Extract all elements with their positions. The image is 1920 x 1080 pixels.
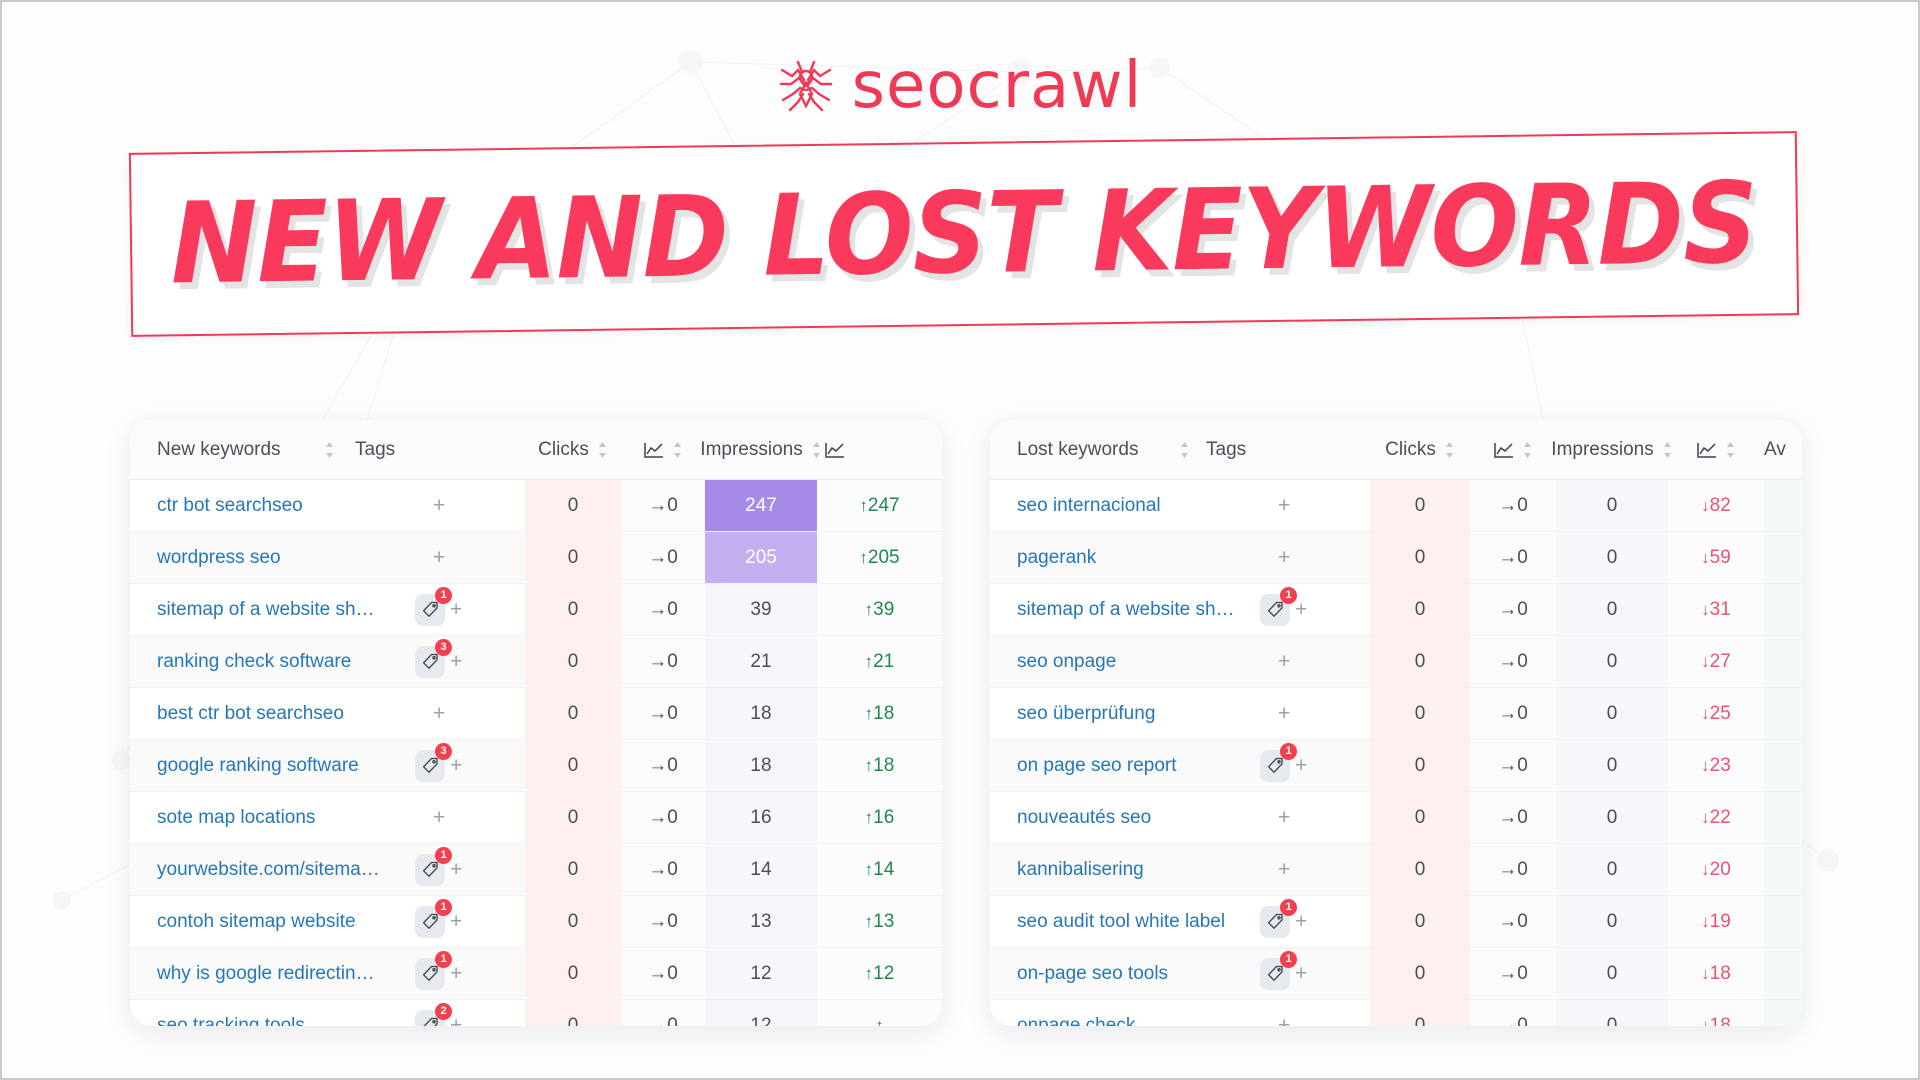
keyword-link[interactable]: on-page seo tools [1017,963,1168,984]
col-clicks-label: Clicks [1385,439,1436,461]
table-row[interactable]: sitemap of a website sh…1+0→039↑39 [130,584,942,636]
down-arrow-icon: ↓ [1701,756,1710,775]
impressions-delta-cell: ↑39 [817,584,942,636]
clicks-cell: 0 [525,584,621,636]
clicks-cell: 0 [525,948,621,1000]
tags-cell[interactable]: 1+ [1200,948,1370,1000]
line-chart-icon [825,442,845,458]
down-arrow-icon: ↓ [1701,1016,1710,1027]
tag-chip[interactable]: 1 [415,958,445,990]
sort-icon[interactable] [597,441,608,459]
keyword-cell[interactable]: on page seo report [990,740,1200,792]
up-arrow-icon: ↑ [875,1016,884,1027]
keyword-cell[interactable]: seo onpage [990,636,1200,688]
flat-arrow-icon: → [1498,911,1517,932]
table-row[interactable]: on-page seo tools1+0→00↓18 [990,948,1802,1000]
keyword-link[interactable]: seo internacional [1017,495,1161,516]
impressions-cell: 0 [1556,1000,1668,1027]
clicks-delta-cell: →0 [621,844,705,896]
tags-cell[interactable]: 1+ [1200,740,1370,792]
up-arrow-icon: ↑ [865,652,874,671]
col-impressions-trend[interactable] [1668,420,1764,480]
spider-icon [778,56,834,116]
keyword-cell[interactable]: seo internacional [990,480,1200,532]
tag-count-badge: 3 [435,743,452,760]
tag-chip[interactable]: 1 [1260,750,1290,782]
keyword-cell[interactable]: ranking check software [130,636,345,688]
tag-icon [1267,601,1284,618]
new-keywords-card: New keywords Tags Clicks [130,420,942,1026]
clicks-cell: 0 [1370,532,1470,584]
impressions-cell: 205 [705,532,817,584]
tag-chip[interactable]: 1 [1260,958,1290,990]
col-tags-label: Tags [1206,439,1246,461]
add-tag-button[interactable]: + [1278,703,1290,724]
clicks-delta-cell: →0 [1470,740,1556,792]
table-row[interactable]: seo internacional+0→00↓82 [990,480,1802,532]
clicks-delta-cell: →0 [1470,584,1556,636]
sort-icon[interactable] [1179,441,1190,459]
clicks-cell: 0 [525,1000,621,1027]
add-tag-button[interactable]: + [1295,911,1307,932]
impressions-delta-cell: ↑14 [817,844,942,896]
impressions-delta-cell: ↓22 [1668,792,1764,844]
clicks-delta-cell: →0 [621,636,705,688]
tag-count-badge: 1 [1280,899,1297,916]
flat-arrow-icon: → [1498,859,1517,880]
keyword-link[interactable]: seo onpage [1017,651,1116,672]
tag-icon [422,601,439,618]
impressions-delta-cell: ↑18 [817,688,942,740]
impressions-delta-cell: ↓20 [1668,844,1764,896]
col-impressions-label: Impressions [700,439,802,461]
table-head: New keywords Tags Clicks [130,420,942,480]
clicks-cell: 0 [1370,948,1470,1000]
clicks-delta-cell: →0 [621,480,705,532]
clicks-cell: 0 [1370,740,1470,792]
tag-chip[interactable]: 3 [415,750,445,782]
impressions-cell: 0 [1556,948,1668,1000]
impressions-delta-cell: ↑ [817,1000,942,1027]
keyword-cell[interactable]: sitemap of a website sh… [990,584,1200,636]
tag-icon [422,653,439,670]
table-row[interactable]: yourwebsite.com/sitema…1+0→014↑14 [130,844,942,896]
tags-cell[interactable]: + [1200,792,1370,844]
add-tag-button[interactable]: + [450,651,462,672]
up-arrow-icon: ↑ [859,548,868,567]
sort-icon[interactable] [672,441,683,459]
keyword-link[interactable]: why is google redirectin… [157,963,375,984]
keyword-cell[interactable]: wordpress seo [130,532,345,584]
clicks-delta-cell: →0 [1470,844,1556,896]
tags-cell[interactable]: + [345,792,525,844]
add-tag-button[interactable]: + [1278,1015,1290,1026]
keyword-cell[interactable]: yourwebsite.com/sitema… [130,844,345,896]
clicks-cell: 0 [525,896,621,948]
add-tag-button[interactable]: + [1278,807,1290,828]
flat-arrow-icon: → [1498,495,1517,516]
down-arrow-icon: ↓ [1701,912,1710,931]
add-tag-button[interactable]: + [450,859,462,880]
up-arrow-icon: ↑ [865,704,874,723]
sort-icon[interactable] [1725,441,1736,459]
impressions-delta-cell: ↑205 [817,532,942,584]
down-arrow-icon: ↓ [1701,860,1710,879]
keyword-link[interactable]: seo tracking tools [157,1015,305,1027]
tag-icon [1267,965,1284,982]
up-arrow-icon: ↑ [865,808,874,827]
table-row[interactable]: google ranking software3+0→018↑18 [130,740,942,792]
sort-icon[interactable] [1662,441,1673,459]
impressions-cell: 18 [705,688,817,740]
keyword-link[interactable]: seo audit tool white label [1017,911,1225,932]
flat-arrow-icon: → [1498,703,1517,724]
clicks-delta-cell: →0 [1470,688,1556,740]
keyword-cell[interactable]: best ctr bot searchseo [130,688,345,740]
table-row[interactable]: contoh sitemap website1+0→013↑13 [130,896,942,948]
add-tag-button[interactable]: + [1295,963,1307,984]
impressions-delta-cell: ↑21 [817,636,942,688]
table-row[interactable]: best ctr bot searchseo+0→018↑18 [130,688,942,740]
clicks-cell: 0 [1370,1000,1470,1027]
keyword-link[interactable]: sitemap of a website sh… [1017,599,1235,620]
clicks-cell: 0 [1370,792,1470,844]
clicks-cell: 0 [1370,480,1470,532]
flat-arrow-icon: → [648,755,667,776]
table-row[interactable]: nouveautés seo+0→00↓22 [990,792,1802,844]
table-row[interactable]: seo überprüfung+0→00↓25 [990,688,1802,740]
impressions-cell: 0 [1556,844,1668,896]
impressions-cell: 12 [705,1000,817,1027]
tag-count-badge: 1 [435,951,452,968]
clicks-delta-cell: →0 [1470,948,1556,1000]
clicks-cell: 0 [1370,636,1470,688]
impressions-cell: 12 [705,948,817,1000]
col-clicks-trend[interactable] [1470,420,1556,480]
tag-chip[interactable]: 1 [415,594,445,626]
avg-position-cell [1764,1000,1802,1027]
keyword-link[interactable]: best ctr bot searchseo [157,703,344,724]
banner-title: NEW AND LOST KEYWORDS [170,168,1758,301]
tags-cell[interactable]: 2+ [345,1000,525,1027]
table-row[interactable]: onpage check+0→00↓18 [990,1000,1802,1027]
flat-arrow-icon: → [1498,963,1517,984]
flat-arrow-icon: → [1498,755,1517,776]
impressions-delta-cell: ↓18 [1668,948,1764,1000]
impressions-cell: 0 [1556,532,1668,584]
keyword-link[interactable]: sitemap of a website sh… [157,599,375,620]
avg-position-cell [1764,584,1802,636]
impressions-delta-cell: ↓23 [1668,740,1764,792]
col-clicks[interactable]: Clicks [1370,420,1470,480]
tag-count-badge: 1 [1280,743,1297,760]
clicks-delta-cell: →0 [621,532,705,584]
table-row[interactable]: wordpress seo+0→0205↑205 [130,532,942,584]
add-tag-button[interactable]: + [450,599,462,620]
keyword-cell[interactable]: nouveautés seo [990,792,1200,844]
keyword-link[interactable]: seo überprüfung [1017,703,1155,724]
col-avg-position-label: Av [1764,439,1786,461]
keyword-link[interactable]: sote map locations [157,807,315,828]
keyword-link[interactable]: kannibalisering [1017,859,1144,880]
add-tag-button[interactable]: + [450,911,462,932]
tags-cell[interactable]: + [345,688,525,740]
avg-position-cell [1764,896,1802,948]
lost-keywords-card: Lost keywords Tags Clicks [990,420,1802,1026]
clicks-delta-cell: →0 [621,688,705,740]
keyword-cell[interactable]: kannibalisering [990,844,1200,896]
add-tag-button[interactable]: + [433,703,445,724]
keyword-cell[interactable]: on-page seo tools [990,948,1200,1000]
keyword-cell[interactable]: seo audit tool white label [990,896,1200,948]
col-new-keywords[interactable]: New keywords [130,420,345,480]
flat-arrow-icon: → [648,599,667,620]
impressions-delta-cell: ↑247 [817,480,942,532]
table-row[interactable]: why is google redirectin…1+0→012↑12 [130,948,942,1000]
tag-icon [1267,757,1284,774]
sort-icon[interactable] [1444,441,1455,459]
clicks-delta-cell: →0 [621,948,705,1000]
up-arrow-icon: ↑ [865,600,874,619]
keyword-cell[interactable]: google ranking software [130,740,345,792]
header-row: Lost keywords Tags Clicks [990,420,1802,480]
keyword-link[interactable]: nouveautés seo [1017,807,1151,828]
tags-cell[interactable]: + [345,480,525,532]
keyword-link[interactable]: contoh sitemap website [157,911,356,932]
col-tags: Tags [1200,420,1370,480]
flat-arrow-icon: → [648,495,667,516]
down-arrow-icon: ↓ [1701,704,1710,723]
keyword-link[interactable]: on page seo report [1017,755,1177,776]
impressions-delta-cell: ↓25 [1668,688,1764,740]
avg-position-cell [1764,636,1802,688]
sort-icon[interactable] [811,441,822,459]
tag-icon [422,757,439,774]
up-arrow-icon: ↑ [859,496,868,515]
col-impressions-trend[interactable] [817,420,942,480]
add-tag-button[interactable]: + [1278,859,1290,880]
clicks-delta-cell: →0 [1470,896,1556,948]
avg-position-cell [1764,532,1802,584]
impressions-cell: 247 [705,480,817,532]
tags-cell[interactable]: 1+ [345,896,525,948]
table-row[interactable]: ranking check software3+0→021↑21 [130,636,942,688]
avg-position-cell [1764,792,1802,844]
keyword-link[interactable]: pagerank [1017,547,1096,568]
line-chart-icon [644,442,664,458]
flat-arrow-icon: → [648,547,667,568]
tag-chip[interactable]: 1 [1260,906,1290,938]
add-tag-button[interactable]: + [1278,547,1290,568]
flat-arrow-icon: → [1498,807,1517,828]
impressions-cell: 16 [705,792,817,844]
table-head: Lost keywords Tags Clicks [990,420,1802,480]
clicks-delta-cell: →0 [621,740,705,792]
keyword-link[interactable]: ctr bot searchseo [157,495,303,516]
avg-position-cell [1764,480,1802,532]
keyword-link[interactable]: yourwebsite.com/sitema… [157,859,380,880]
impressions-delta-cell: ↓27 [1668,636,1764,688]
impressions-cell: 18 [705,740,817,792]
clicks-delta-cell: →0 [1470,532,1556,584]
tags-cell[interactable]: + [1200,480,1370,532]
tags-cell[interactable]: 3+ [345,636,525,688]
add-tag-button[interactable]: + [433,495,445,516]
add-tag-button[interactable]: + [1295,755,1307,776]
table-row[interactable]: on page seo report1+0→00↓23 [990,740,1802,792]
avg-position-cell [1764,688,1802,740]
impressions-delta-cell: ↓82 [1668,480,1764,532]
keyword-link[interactable]: google ranking software [157,755,359,776]
tags-cell[interactable]: + [1200,636,1370,688]
impressions-cell: 0 [1556,480,1668,532]
col-tags-label: Tags [355,439,395,461]
sort-icon[interactable] [1522,441,1533,459]
down-arrow-icon: ↓ [1701,548,1710,567]
keyword-cell[interactable]: contoh sitemap website [130,896,345,948]
add-tag-button[interactable]: + [450,755,462,776]
col-impressions[interactable]: Impressions [1556,420,1668,480]
col-tags: Tags [345,420,525,480]
impressions-delta-cell: ↑16 [817,792,942,844]
up-arrow-icon: ↑ [865,912,874,931]
keyword-cell[interactable]: seo tracking tools [130,1000,345,1027]
down-arrow-icon: ↓ [1701,600,1710,619]
impressions-cell: 0 [1556,688,1668,740]
add-tag-button[interactable]: + [450,963,462,984]
clicks-delta-cell: →0 [621,1000,705,1027]
clicks-delta-cell: →0 [1470,636,1556,688]
impressions-cell: 21 [705,636,817,688]
tags-cell[interactable]: + [1200,688,1370,740]
clicks-delta-cell: →0 [621,584,705,636]
col-clicks-trend[interactable] [621,420,705,480]
keyword-cell[interactable]: sote map locations [130,792,345,844]
keyword-cell[interactable]: pagerank [990,532,1200,584]
tags-cell[interactable]: 1+ [1200,896,1370,948]
clicks-cell: 0 [525,636,621,688]
table-row[interactable]: sitemap of a website sh…1+0→00↓31 [990,584,1802,636]
tag-count-badge: 1 [435,899,452,916]
col-lost-keywords[interactable]: Lost keywords [990,420,1200,480]
col-impressions[interactable]: Impressions [705,420,817,480]
table-row[interactable]: pagerank+0→00↓59 [990,532,1802,584]
clicks-cell: 0 [525,532,621,584]
tag-count-badge: 3 [435,639,452,656]
flat-arrow-icon: → [648,859,667,880]
add-tag-button[interactable]: + [1295,599,1307,620]
banner-box: NEW AND LOST KEYWORDS [129,131,1799,337]
tag-chip[interactable]: 1 [415,854,445,886]
impressions-cell: 0 [1556,792,1668,844]
table-row[interactable]: seo tracking tools2+0→012↑ [130,1000,942,1027]
table-row[interactable]: seo onpage+0→00↓27 [990,636,1802,688]
tag-icon [422,861,439,878]
tags-cell[interactable]: + [1200,532,1370,584]
tag-count-badge: 1 [1280,587,1297,604]
keyword-link[interactable]: wordpress seo [157,547,281,568]
tag-icon [422,913,439,930]
impressions-cell: 0 [1556,636,1668,688]
impressions-delta-cell: ↓18 [1668,1000,1764,1027]
keyword-cell[interactable]: ctr bot searchseo [130,480,345,532]
keyword-cell[interactable]: onpage check [990,1000,1200,1027]
clicks-delta-cell: →0 [1470,1000,1556,1027]
clicks-delta-cell: →0 [1470,792,1556,844]
col-avg-position[interactable]: Av [1764,420,1802,480]
col-clicks[interactable]: Clicks [525,420,621,480]
brand-logo: seocrawl [2,54,1918,118]
sort-icon[interactable] [324,441,335,459]
add-tag-button[interactable]: + [450,1015,462,1026]
up-arrow-icon: ↑ [865,756,874,775]
keyword-cell[interactable]: seo überprüfung [990,688,1200,740]
lost-keywords-table: Lost keywords Tags Clicks [990,420,1802,1026]
table-body: ctr bot searchseo+0→0247↑247wordpress se… [130,480,942,1027]
clicks-cell: 0 [525,480,621,532]
table-row[interactable]: kannibalisering+0→00↓20 [990,844,1802,896]
tags-cell[interactable]: + [1200,844,1370,896]
clicks-cell: 0 [525,844,621,896]
avg-position-cell [1764,948,1802,1000]
impressions-delta-cell: ↑13 [817,896,942,948]
clicks-cell: 0 [1370,688,1470,740]
header-row: New keywords Tags Clicks [130,420,942,480]
flat-arrow-icon: → [648,1015,667,1027]
up-arrow-icon: ↑ [865,860,874,879]
clicks-cell: 0 [525,688,621,740]
clicks-cell: 0 [525,792,621,844]
keyword-link[interactable]: onpage check [1017,1015,1135,1027]
add-tag-button[interactable]: + [433,807,445,828]
col-impressions-label: Impressions [1551,439,1653,461]
add-tag-button[interactable]: + [433,547,445,568]
tags-cell[interactable]: + [345,532,525,584]
table-row[interactable]: seo audit tool white label1+0→00↓19 [990,896,1802,948]
table-body: seo internacional+0→00↓82pagerank+0→00↓5… [990,480,1802,1027]
add-tag-button[interactable]: + [1278,495,1290,516]
tag-chip[interactable]: 3 [415,646,445,678]
down-arrow-icon: ↓ [1701,652,1710,671]
impressions-delta-cell: ↓19 [1668,896,1764,948]
impressions-cell: 0 [1556,584,1668,636]
flat-arrow-icon: → [648,651,667,672]
tags-cell[interactable]: 3+ [345,740,525,792]
down-arrow-icon: ↓ [1701,964,1710,983]
keyword-cell[interactable]: why is google redirectin… [130,948,345,1000]
tags-cell[interactable]: + [1200,1000,1370,1027]
tag-count-badge: 1 [435,587,452,604]
new-keywords-table: New keywords Tags Clicks [130,420,942,1026]
tag-chip[interactable]: 2 [415,1010,445,1027]
keyword-link[interactable]: ranking check software [157,651,351,672]
clicks-cell: 0 [1370,844,1470,896]
impressions-cell: 39 [705,584,817,636]
table-row[interactable]: sote map locations+0→016↑16 [130,792,942,844]
keyword-cell[interactable]: sitemap of a website sh… [130,584,345,636]
flat-arrow-icon: → [648,807,667,828]
tag-chip[interactable]: 1 [1260,594,1290,626]
impressions-delta-cell: ↑12 [817,948,942,1000]
brand-name: seocrawl [852,54,1143,118]
impressions-delta-cell: ↓59 [1668,532,1764,584]
tag-icon [422,1017,439,1026]
table-row[interactable]: ctr bot searchseo+0→0247↑247 [130,480,942,532]
add-tag-button[interactable]: + [1278,651,1290,672]
tag-count-badge: 1 [435,847,452,864]
tag-chip[interactable]: 1 [415,906,445,938]
impressions-cell: 0 [1556,740,1668,792]
